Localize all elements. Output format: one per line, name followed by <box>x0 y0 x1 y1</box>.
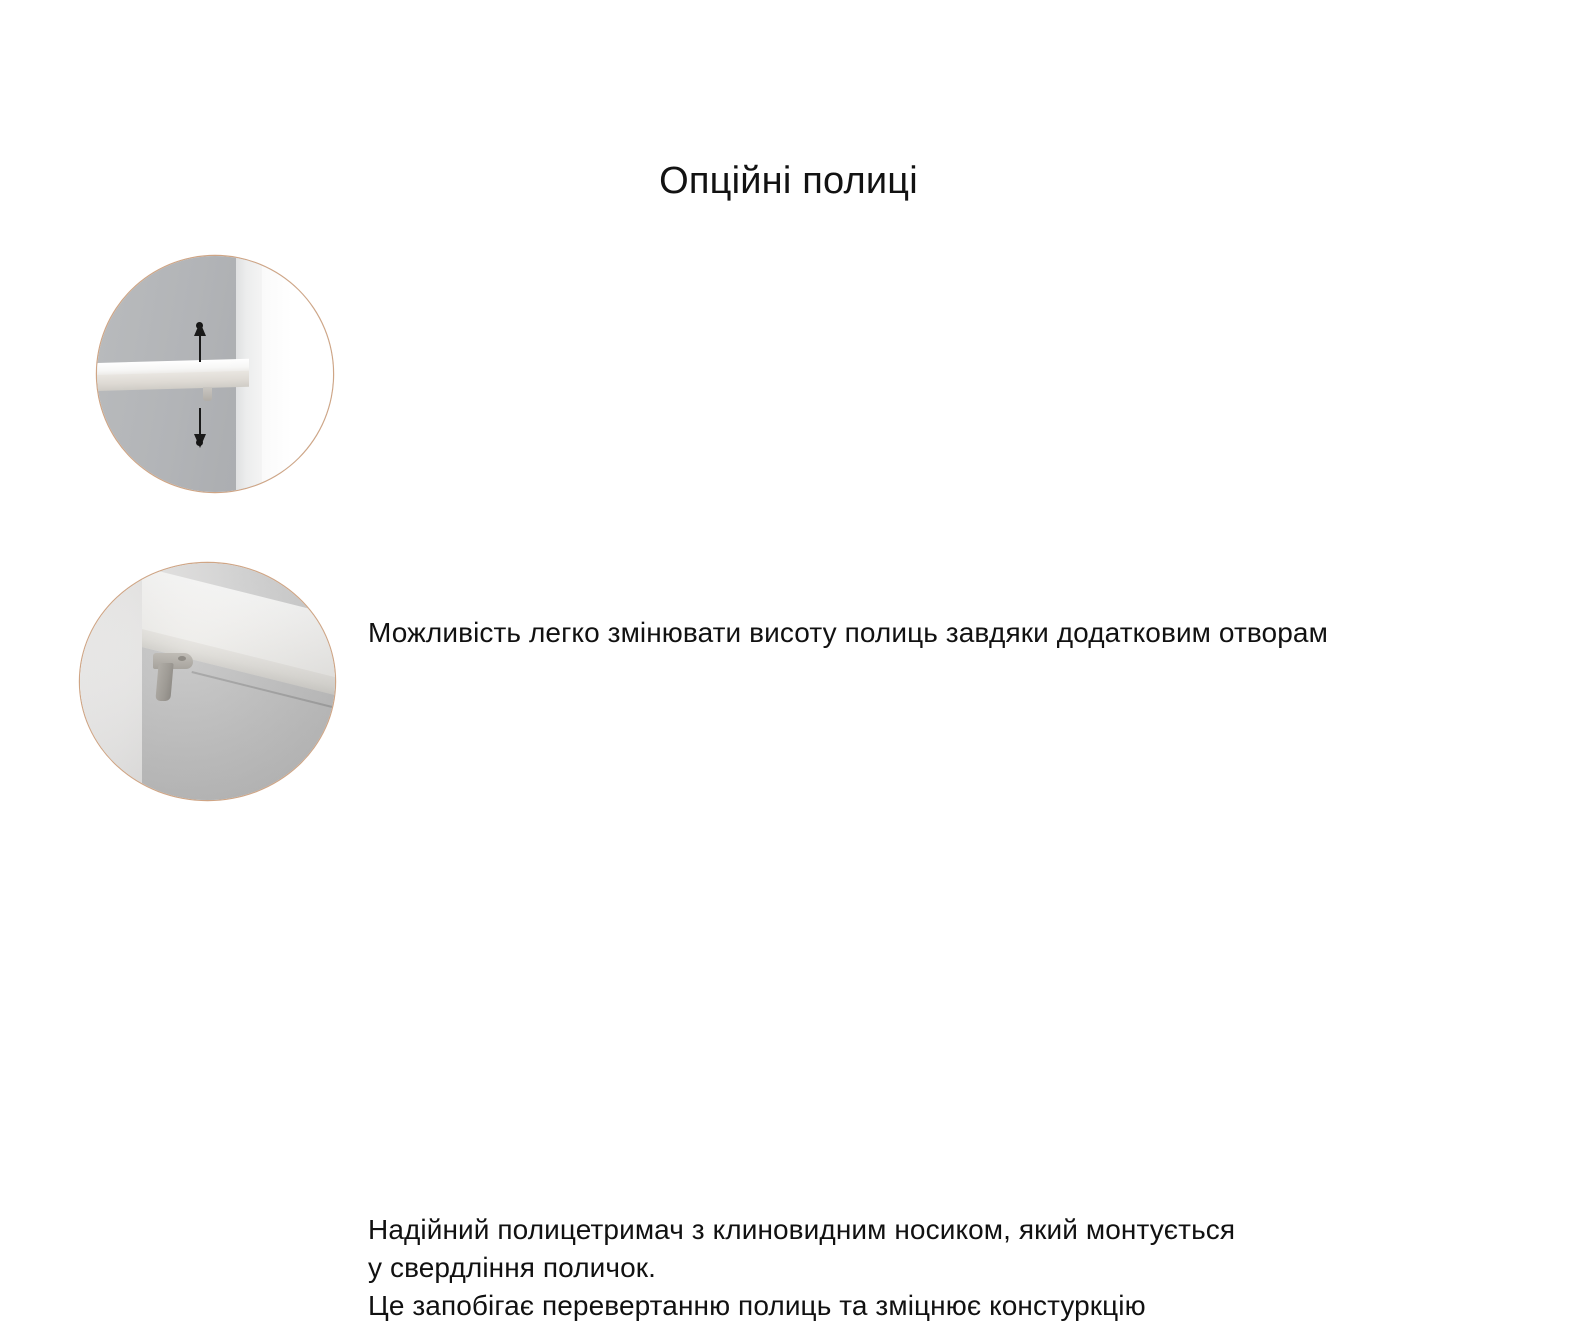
arrow-down-icon <box>199 408 201 436</box>
feature-caption-adjustable-height: Можливість легко змінювати висоту полиць… <box>368 614 1328 652</box>
mounting-hole-lower-icon <box>196 439 203 446</box>
photo-inner <box>97 256 333 492</box>
page-title: Опційні полиці <box>0 158 1577 204</box>
shelf-holder-bracket <box>153 653 193 701</box>
shelf-pin <box>203 387 212 401</box>
bracket-hole <box>178 656 186 661</box>
cabinet-panel-right <box>292 256 333 492</box>
bracket-stem <box>155 663 173 701</box>
caption-line: Це запобігає перевертанню полиць та зміц… <box>368 1287 1235 1325</box>
caption-line: Можливість легко змінювати висоту полиць… <box>368 614 1328 652</box>
arrow-up-icon <box>199 334 201 362</box>
caption-line: Надійний полицетримач з клиновидним носи… <box>368 1211 1235 1249</box>
caption-line: у свердління поличок. <box>368 1249 1235 1287</box>
shelf-height-adjustment-photo <box>97 256 333 492</box>
cabinet-panel-side <box>262 256 292 492</box>
slide-canvas: Опційні полиці Можливість легко змінюват… <box>0 0 1577 1080</box>
shelf-support-bracket-photo <box>80 563 335 800</box>
feature-caption-shelf-holder: Надійний полицетримач з клиновидним носи… <box>368 1211 1235 1325</box>
photo-inner <box>80 563 335 800</box>
